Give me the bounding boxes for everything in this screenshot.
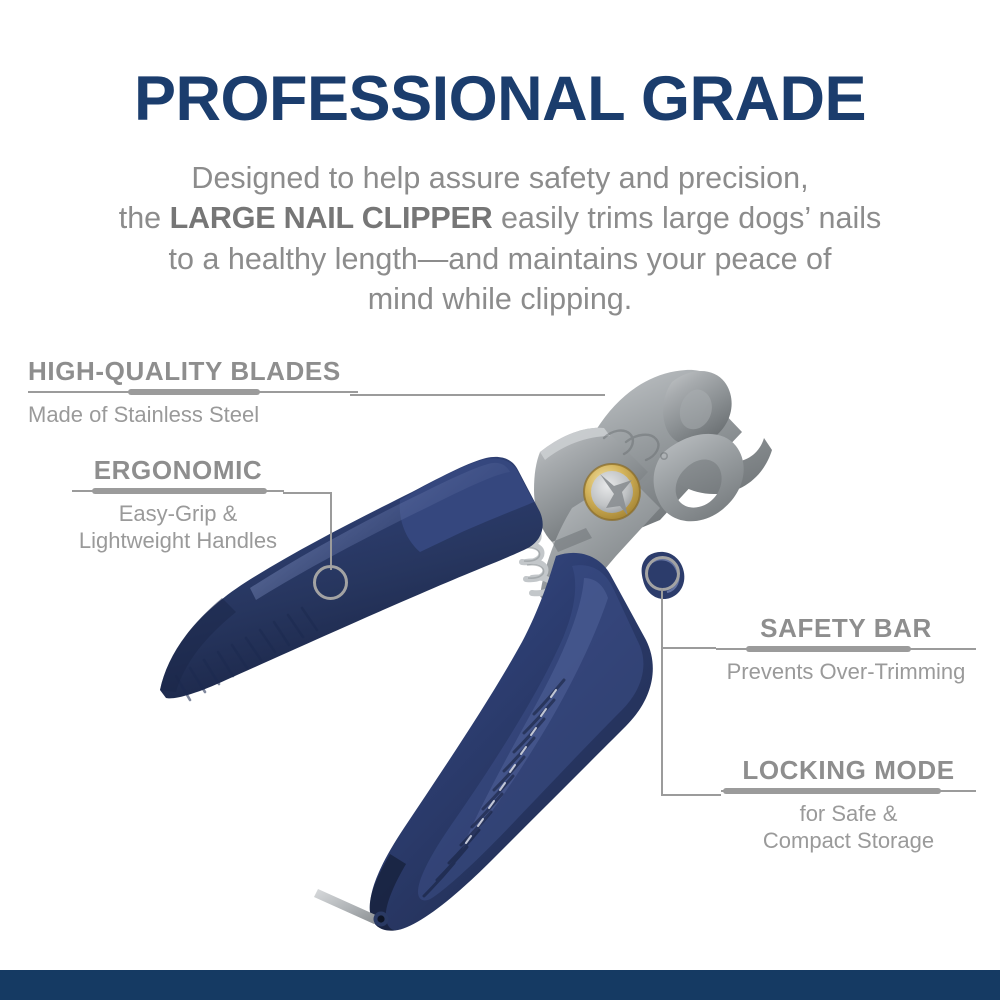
connector-high-quality-blades [350,394,605,396]
rule-thick-segment [723,788,941,794]
infographic-page: PROFESSIONAL GRADE Designed to help assu… [0,0,1000,1000]
safety-bar-marker-ring [645,556,680,591]
callout-subtitle-line: Lightweight Handles [72,528,284,555]
pivot-screw [584,464,640,520]
callout-rule-safety-bar [716,646,976,652]
connector-safety-bar-horizontal [661,647,716,649]
callout-subtitle-line: Compact Storage [721,828,976,855]
lower-handle [370,553,653,931]
ergonomic-marker-ring [313,565,348,600]
callout-title-safety-bar: SAFETY BAR [716,615,976,642]
connector-ergonomic-horizontal [283,492,331,494]
callout-subtitle-locking-mode: for Safe & Compact Storage [721,801,976,855]
connector-locking-mode-horizontal [661,794,721,796]
rule-thick-segment [128,389,260,395]
connector-locking-mode-vertical [661,647,663,795]
callout-rule-high-quality-blades [28,389,358,395]
callout-subtitle-high-quality-blades: Made of Stainless Steel [28,402,358,429]
callout-title-locking-mode: LOCKING MODE [721,757,976,784]
callout-subtitle-safety-bar: Prevents Over-Trimming [716,659,976,686]
callout-rule-locking-mode [721,788,976,794]
connector-ergonomic-vertical [330,492,332,570]
callout-subtitle-line: for Safe & [721,801,976,828]
callout-subtitle-line: Prevents Over-Trimming [716,659,976,686]
callout-locking-mode: LOCKING MODE for Safe & Compact Storage [721,757,976,855]
callout-high-quality-blades: HIGH-QUALITY BLADES Made of Stainless St… [28,358,358,429]
callout-rule-ergonomic [72,488,284,494]
rule-thick-segment [746,646,911,652]
rule-thick-segment [92,488,267,494]
bottom-accent-bar [0,970,1000,1000]
callout-subtitle-line: Made of Stainless Steel [28,402,358,429]
connector-safety-bar-vertical [661,588,663,648]
callout-subtitle-ergonomic: Easy-Grip & Lightweight Handles [72,501,284,555]
callout-title-ergonomic: ERGONOMIC [72,457,284,484]
callout-ergonomic: ERGONOMIC Easy-Grip & Lightweight Handle… [72,457,284,555]
callout-subtitle-line: Easy-Grip & [72,501,284,528]
callout-title-high-quality-blades: HIGH-QUALITY BLADES [28,358,358,385]
callout-safety-bar: SAFETY BAR Prevents Over-Trimming [716,615,976,686]
